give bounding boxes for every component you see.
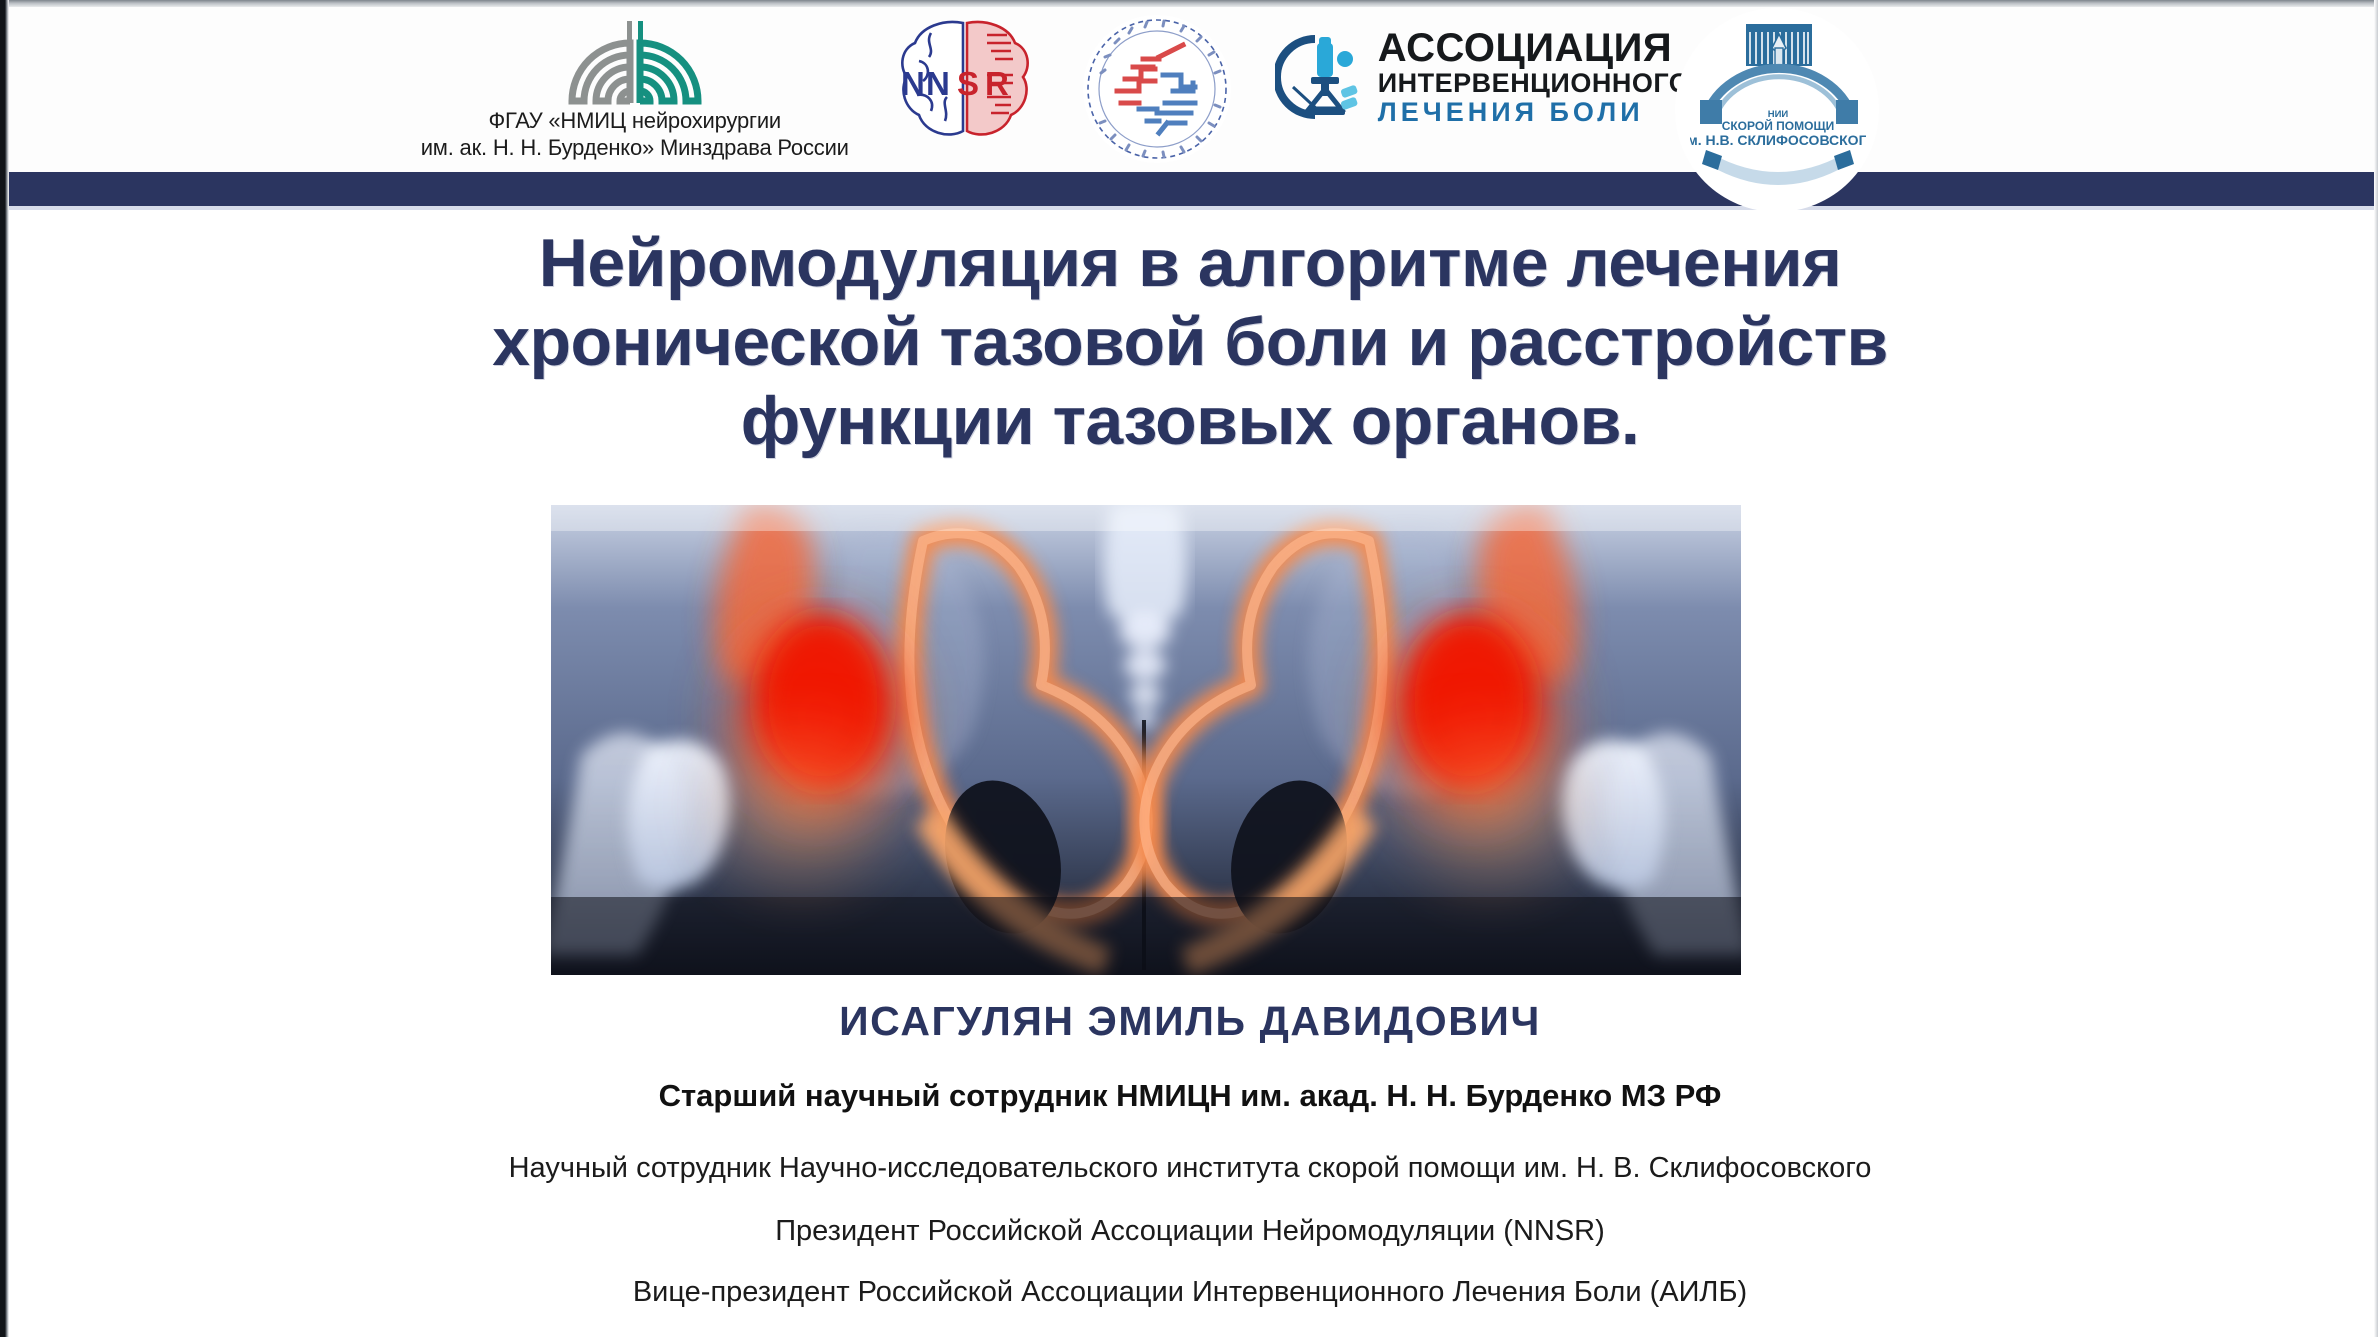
slide-title-line3: функции тазовых органов. — [120, 382, 2260, 461]
sponsor-logo-band: ФГАУ «НМИЦ нейрохирургии им. ак. Н. Н. Б… — [9, 7, 2374, 172]
slide-title: Нейромодуляция в алгоритме лечения хрони… — [120, 224, 2260, 461]
window-top-edge — [0, 0, 2378, 7]
nnsr-letter-n1: N — [901, 65, 925, 102]
pelvis-xray-illustration — [551, 505, 1741, 975]
nnsr-letter-s: S — [957, 65, 979, 102]
presentation-slide: ФГАУ «НМИЦ нейрохирургии им. ак. Н. Н. Б… — [0, 0, 2378, 1337]
logo-caption-burdenko: ФГАУ «НМИЦ нейрохирургии им. ак. Н. Н. Б… — [421, 108, 849, 162]
speaker-name: ИСАГУЛЯН ЭМИЛЬ ДАВИДОВИЧ — [120, 998, 2260, 1045]
ailb-line3: ЛЕЧЕНИЯ БОЛИ — [1378, 98, 1691, 127]
slide-title-line1: Нейромодуляция в алгоритме лечения — [120, 224, 2260, 303]
nnsr-letter-r: R — [985, 65, 1009, 102]
speaker-primary-role: Старший научный сотрудник НМИЦН им. акад… — [120, 1078, 2260, 1114]
logo-neuromodulation-society-seal — [1081, 7, 1233, 170]
sklif-text-3: им. Н.В. СКЛИФОСОВСКОГО — [1690, 132, 1866, 148]
speaker-affiliation-2: Президент Российской Ассоциации Нейромод… — [120, 1215, 2260, 1248]
ailb-wordmark: АССОЦИАЦИЯ ИНТЕРВЕНЦИОННОГО ЛЕЧЕНИЯ БОЛИ — [1378, 27, 1691, 127]
ailb-line2: ИНТЕРВЕНЦИОННОГО — [1378, 69, 1691, 98]
circular-seal-brain-icon — [1081, 13, 1233, 165]
burdenko-caption-line2: им. ак. Н. Н. Бурденко» Минздрава России — [421, 135, 849, 162]
navy-divider-bar — [9, 172, 2374, 206]
logo-association-interventional-pain: АССОЦИАЦИЯ ИНТЕРВЕНЦИОННОГО ЛЕЧЕНИЯ БОЛИ — [1275, 7, 1691, 127]
pelvis-xray-svg — [551, 505, 1741, 975]
speaker-affiliation-3: Вице-президент Российской Ассоциации Инт… — [120, 1276, 2260, 1309]
logo-nnsr: N N S R — [891, 7, 1039, 148]
speaker-affiliation-1: Научный сотрудник Научно-исследовательск… — [120, 1152, 2260, 1185]
building-arch-emblem-icon: НИИ СКОРОЙ ПОМОЩИ им. Н.В. СКЛИФОСОВСКОГ… — [1690, 14, 1866, 190]
burdenko-caption-line1: ФГАУ «НМИЦ нейрохирургии — [421, 108, 849, 135]
nnsr-letter-n2: N — [926, 65, 950, 102]
sklif-text-2: СКОРОЙ ПОМОЩИ — [1722, 118, 1835, 133]
window-left-edge — [0, 0, 9, 1337]
window-right-edge — [2374, 0, 2378, 1337]
labyrinth-arch-icon — [544, 13, 726, 105]
brain-circuit-icon: N N S R — [891, 17, 1039, 143]
ailb-line1: АССОЦИАЦИЯ — [1378, 27, 1691, 69]
slide-title-line2: хронической тазовой боли и расстройств — [120, 303, 2260, 382]
logo-nmic-neurosurgery-burdenko: ФГАУ «НМИЦ нейрохирургии им. ак. Н. Н. Б… — [421, 7, 849, 162]
navy-divider-highlight — [9, 206, 2374, 210]
microscope-icon — [1275, 31, 1367, 123]
